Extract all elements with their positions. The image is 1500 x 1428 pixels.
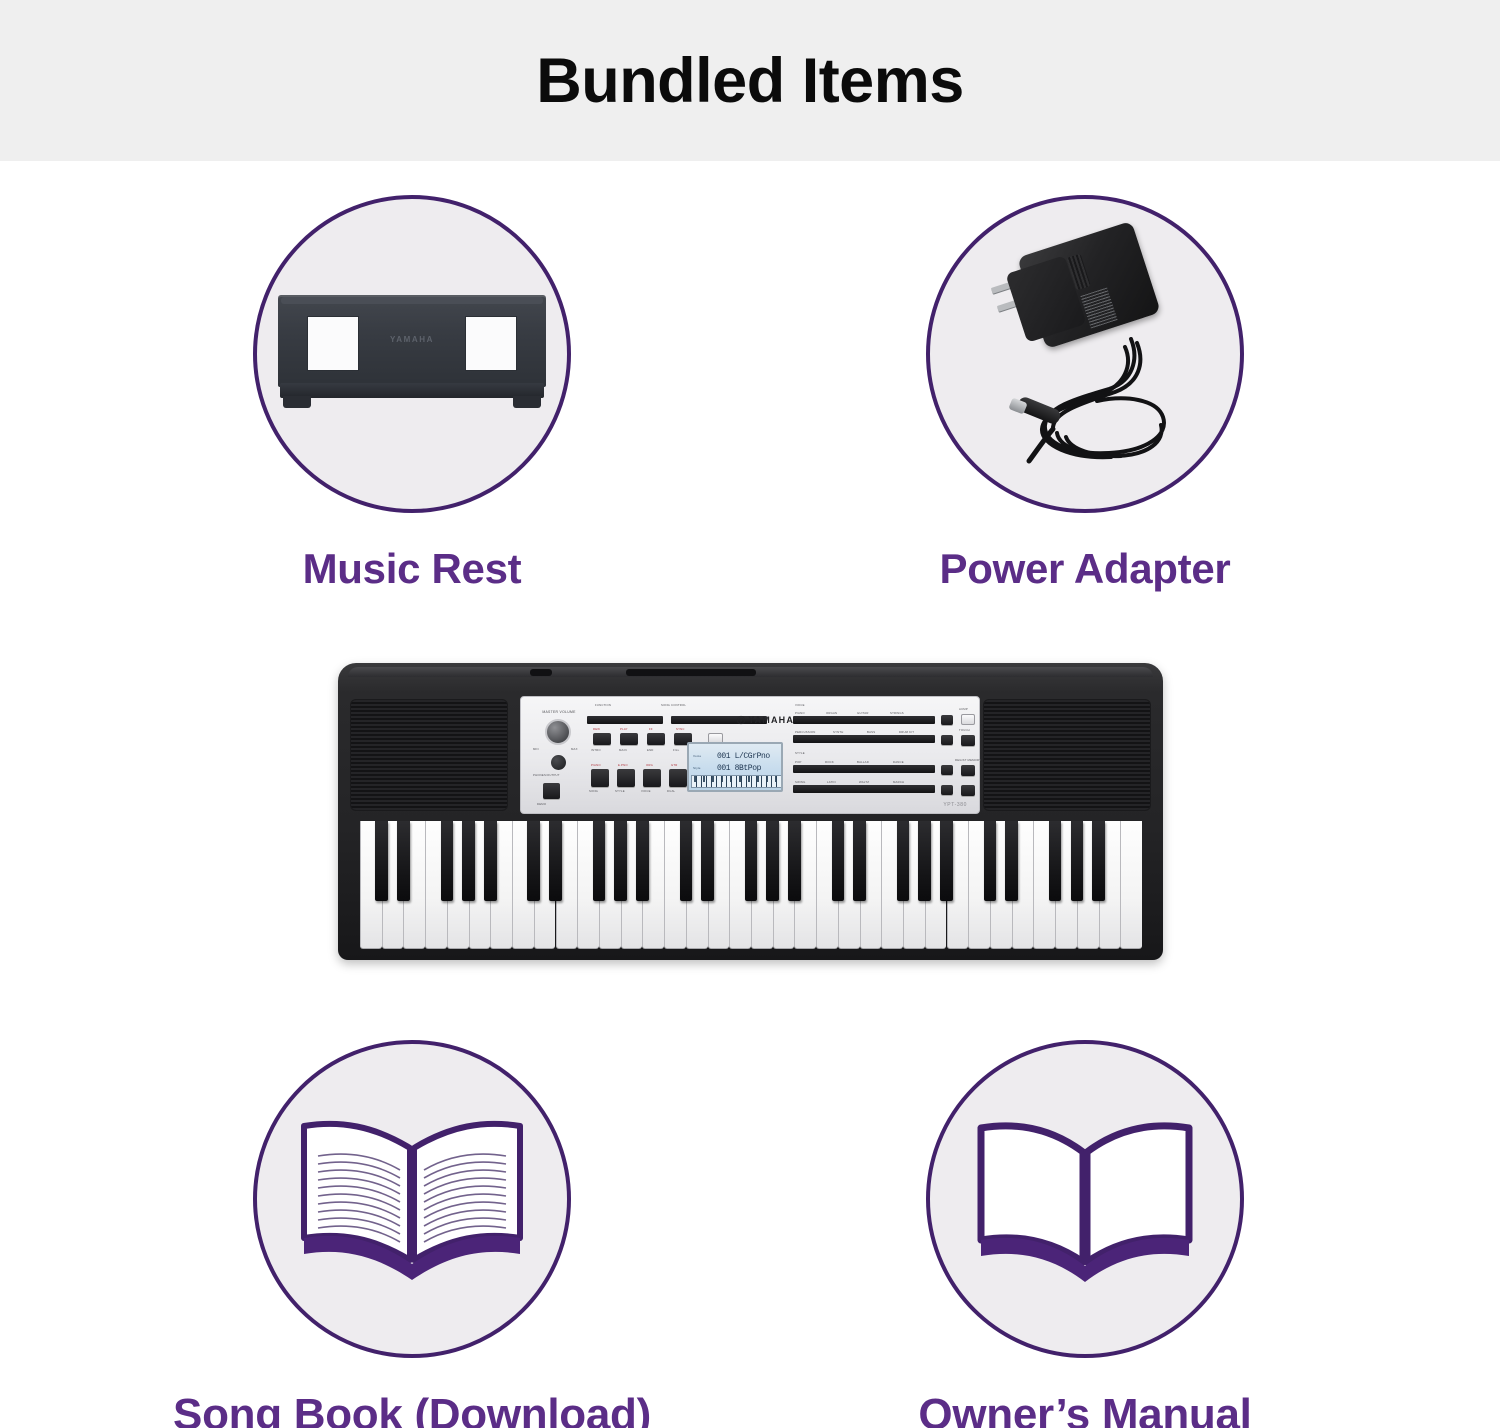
select-button-function[interactable] — [941, 765, 953, 775]
music-rest-photo: YAMAHA — [278, 295, 546, 413]
style-col-2: ROCK — [825, 760, 834, 764]
music-rest-slot — [626, 669, 756, 676]
style-list-strip-2[interactable] — [793, 785, 935, 793]
song-sub-label-4: FILL — [673, 748, 679, 752]
voice-col-3: GUITAR — [857, 711, 869, 715]
black-key-Dsharp-2[interactable] — [701, 821, 714, 901]
speaker-grille-right — [983, 699, 1151, 811]
voice-button-guitar[interactable] — [669, 769, 687, 787]
black-key-Fsharp-2[interactable] — [745, 821, 758, 901]
song-sub-label-2: MAIN — [619, 748, 627, 752]
piano-keys[interactable] — [360, 821, 1142, 949]
style-col-1: POP — [795, 760, 802, 764]
bundled-item-power-adapter: Power Adapter — [825, 195, 1345, 593]
black-key-Csharp-0[interactable] — [375, 821, 388, 901]
black-key-Csharp-4[interactable] — [984, 821, 997, 901]
style-section-label: STYLE — [795, 751, 805, 755]
page-title: Bundled Items — [536, 45, 964, 117]
black-key-Gsharp-2[interactable] — [766, 821, 779, 901]
style-col-4: DANCE — [893, 760, 904, 764]
music-rest-foot-left — [283, 396, 311, 408]
black-key-Asharp-4[interactable] — [1092, 821, 1105, 901]
acmp-onoff-button[interactable] — [961, 714, 975, 725]
function-label: FUNCTION — [595, 703, 611, 707]
phones-output-jack[interactable] — [551, 755, 566, 770]
black-key-Asharp-2[interactable] — [788, 821, 801, 901]
voice-label-1: PIANO — [591, 763, 601, 767]
master-volume-label: MASTER VOLUME — [539, 710, 579, 714]
yamaha-brand-logo: ⓨYAMAHA — [737, 715, 794, 726]
master-volume-knob[interactable] — [545, 719, 571, 745]
keyboard-model-label: YPT-380 — [943, 802, 967, 808]
song-button-ff[interactable] — [647, 733, 665, 745]
demo-label: DEMO — [537, 802, 546, 806]
music-rest-top-lip — [281, 297, 543, 304]
acmp-label: ACMP — [959, 707, 968, 711]
black-key-Asharp-0[interactable] — [484, 821, 497, 901]
black-key-Gsharp-4[interactable] — [1071, 821, 1084, 901]
speaker-grille-left — [350, 699, 508, 811]
black-key-Asharp-3[interactable] — [940, 821, 953, 901]
song-sub-label-3: END — [647, 748, 654, 752]
music-rest-yamaha-logo: YAMAHA — [278, 335, 546, 344]
song-book-label: Song Book (Download) — [173, 1390, 651, 1428]
owners-manual-label: Owner’s Manual — [918, 1390, 1251, 1428]
song-button-stop-play[interactable] — [620, 733, 638, 745]
song-button-label-ff: FF — [649, 727, 653, 731]
voice-list-strip-2[interactable] — [793, 735, 935, 743]
voice-col-1: PIANO — [795, 711, 805, 715]
voice-button-piano[interactable] — [591, 769, 609, 787]
lcd-mini-keyboard — [691, 775, 783, 788]
song-book-circle — [253, 1040, 571, 1358]
yamaha-brand-text: YAMAHA — [748, 715, 794, 725]
voice-col-2: ORGAN — [826, 711, 837, 715]
power-adapter-circle — [926, 195, 1244, 513]
black-key-Fsharp-3[interactable] — [897, 821, 910, 901]
lcd-display: Voice Style 001 L/CGrPno 001 8BtPop — [687, 742, 783, 792]
yamaha-tuning-fork-mark: ⓨ — [737, 716, 746, 725]
power-adapter-label: Power Adapter — [940, 545, 1231, 593]
music-rest-circle: YAMAHA — [253, 195, 571, 513]
style-col-3: BALLAD — [857, 760, 869, 764]
touch-label: TOUCH — [959, 728, 970, 732]
bundled-item-music-rest: YAMAHA Music Rest — [152, 195, 672, 593]
yamaha-keyboard-photo: MASTER VOLUME MIN MAX PHONES/OUTPUT DEMO… — [338, 663, 1163, 960]
open-book-blank-icon — [965, 1104, 1205, 1294]
music-rest-label: Music Rest — [303, 545, 522, 593]
function-strip[interactable] — [587, 716, 663, 724]
black-key-Dsharp-4[interactable] — [1005, 821, 1018, 901]
style-col-8: MARCH — [893, 780, 904, 784]
voice-list-strip-1[interactable] — [793, 716, 935, 724]
black-key-Fsharp-0[interactable] — [441, 821, 454, 901]
voice-section-label: VOICE — [795, 703, 805, 707]
registration-button-1[interactable] — [961, 765, 975, 776]
music-rest-base — [280, 383, 544, 398]
open-book-lined-icon — [292, 1104, 532, 1294]
power-adapter-photo — [955, 219, 1215, 489]
black-key-Gsharp-3[interactable] — [918, 821, 931, 901]
registration-label: REGIST MEMORY — [955, 758, 981, 762]
keyboard-control-panel: MASTER VOLUME MIN MAX PHONES/OUTPUT DEMO… — [520, 696, 980, 814]
black-key-Dsharp-1[interactable] — [549, 821, 562, 901]
black-key-Csharp-3[interactable] — [832, 821, 845, 901]
voice-col-4: STRINGS — [890, 711, 904, 715]
voice-label-2: E.PNO — [618, 763, 628, 767]
owners-manual-circle — [926, 1040, 1244, 1358]
style-col-5: SWING — [795, 780, 805, 784]
voice-button-organ[interactable] — [643, 769, 661, 787]
voice-sub-3: VOICE — [641, 789, 651, 793]
song-button-label-stop: PLAY — [620, 727, 628, 731]
music-rest-slot-secondary — [530, 669, 552, 676]
select-button-voice[interactable] — [941, 715, 953, 725]
lcd-tag-style: Style — [693, 766, 701, 770]
song-button-label-rew: REW — [593, 727, 600, 731]
black-key-Dsharp-3[interactable] — [853, 821, 866, 901]
bundled-item-owners-manual: Owner’s Manual — [825, 1040, 1345, 1428]
phones-output-label: PHONES/OUTPUT — [533, 773, 560, 777]
select-button-extra[interactable] — [941, 785, 953, 795]
lcd-line-2: 001 8BtPop — [717, 764, 761, 773]
black-key-Fsharp-4[interactable] — [1049, 821, 1062, 901]
black-key-Dsharp-0[interactable] — [397, 821, 410, 901]
voice-sub-1: SONG — [589, 789, 598, 793]
lcd-line-1: 001 L/CGrPno — [717, 752, 770, 761]
black-key-Asharp-1[interactable] — [636, 821, 649, 901]
voice-col-5: PERCUSSION — [795, 730, 816, 734]
lcd-tag-voice: Voice — [693, 754, 701, 758]
song-button-label-sync: SYNC — [676, 727, 685, 731]
black-key-Csharp-1[interactable] — [527, 821, 540, 901]
black-key-Fsharp-1[interactable] — [593, 821, 606, 901]
voice-sub-4: DUAL — [667, 789, 675, 793]
style-col-6: LATIN — [827, 780, 836, 784]
style-list-strip-1[interactable] — [793, 765, 935, 773]
white-key-C5[interactable] — [1120, 821, 1142, 949]
voice-col-6: SYNTH — [833, 730, 843, 734]
song-control-label: SONG CONTROL — [661, 703, 686, 707]
style-col-7: WALTZ — [859, 780, 869, 784]
voice-col-7: BASS — [867, 730, 875, 734]
demo-button[interactable] — [543, 783, 560, 799]
voice-col-8: DRUM KIT — [899, 730, 914, 734]
song-sub-label-1: INTRO — [591, 748, 601, 752]
black-key-Csharp-2[interactable] — [680, 821, 693, 901]
music-rest-foot-right — [513, 396, 541, 408]
registration-button-2[interactable] — [961, 785, 975, 796]
voice-sub-2: STYLE — [615, 789, 625, 793]
header-band: Bundled Items — [0, 0, 1500, 161]
select-button-style[interactable] — [941, 735, 953, 745]
voice-label-4: GTR — [671, 763, 678, 767]
black-key-Gsharp-0[interactable] — [462, 821, 475, 901]
volume-max-label: MAX — [571, 747, 578, 751]
song-button-rew[interactable] — [593, 733, 611, 745]
touch-button[interactable] — [961, 735, 975, 746]
bundled-item-song-book: Song Book (Download) — [152, 1040, 672, 1428]
bundled-items-infographic: Bundled Items YAMAHA Music Rest — [0, 0, 1500, 1428]
volume-min-label: MIN — [533, 747, 539, 751]
black-key-Gsharp-1[interactable] — [614, 821, 627, 901]
voice-button-epiano[interactable] — [617, 769, 635, 787]
voice-label-3: ORG — [646, 763, 653, 767]
